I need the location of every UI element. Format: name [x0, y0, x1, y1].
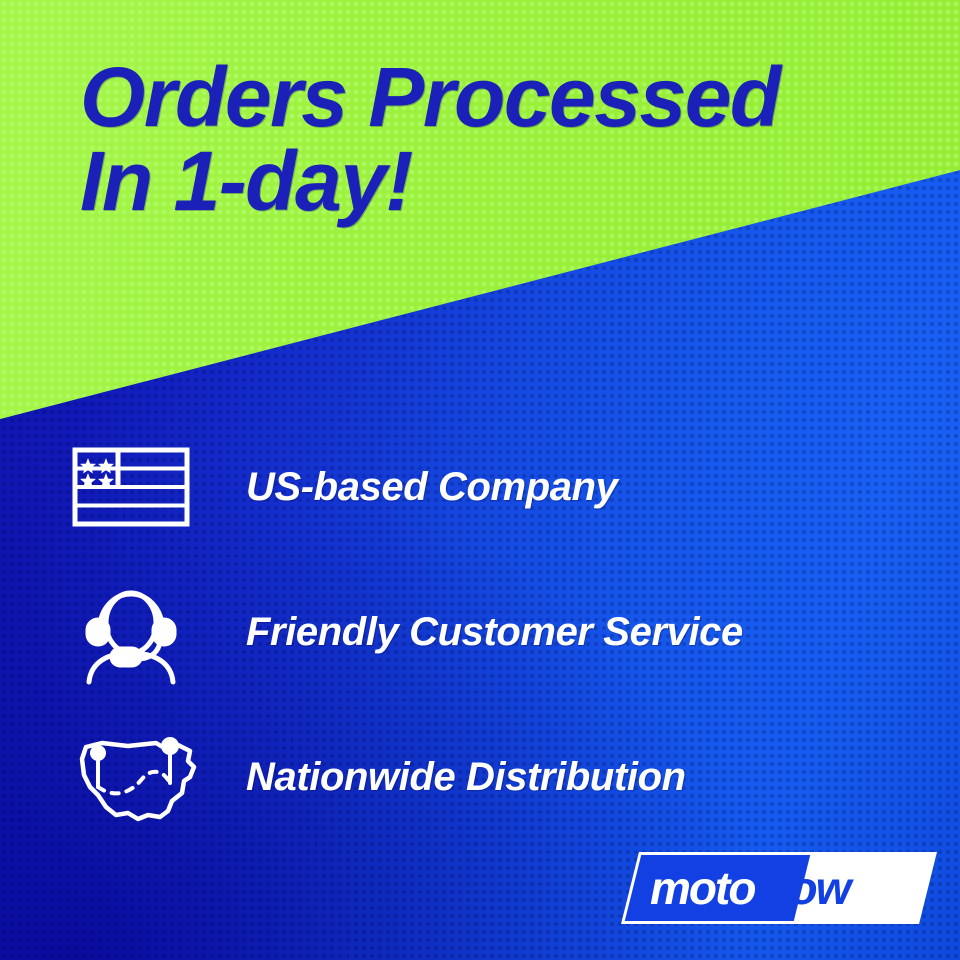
feature-item-distribution: Nationwide Distribution: [0, 722, 960, 867]
feature-label-distribution: Nationwide Distribution: [246, 722, 686, 832]
feature-item-us-based: US-based Company: [0, 432, 960, 577]
logo-text-moto: moto: [650, 861, 754, 915]
headline-line-1: Orders Processed: [80, 58, 940, 138]
us-map-route-icon: [72, 722, 204, 832]
logo-text-now: now: [763, 861, 849, 915]
feature-label-customer-service: Friendly Customer Service: [246, 577, 743, 687]
headset-agent-icon: [72, 577, 204, 687]
headline-line-2: In 1-day!: [80, 142, 940, 222]
motonow-logo: moto now: [630, 852, 930, 924]
promo-banner: Orders Processed In 1-day!: [0, 0, 960, 960]
us-flag-icon: [72, 432, 204, 542]
feature-item-customer-service: Friendly Customer Service: [0, 577, 960, 722]
feature-label-us-based: US-based Company: [246, 432, 617, 542]
feature-list: US-based Company: [0, 432, 960, 867]
logo-wordmark: moto now: [630, 852, 930, 924]
headline: Orders Processed In 1-day!: [80, 58, 940, 222]
